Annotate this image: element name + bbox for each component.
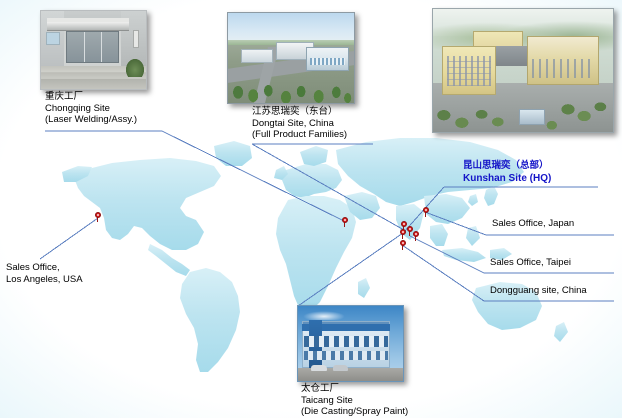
- taipei-marker[interactable]: [412, 231, 421, 241]
- glass-entrance-door: [66, 31, 119, 64]
- shrub: [126, 59, 144, 76]
- taicang-marker[interactable]: [399, 229, 408, 239]
- los-angeles-marker[interactable]: [94, 212, 103, 222]
- world-site-map: 重庆工厂 Chongqing Site (Laser Welding/Assy.…: [0, 0, 622, 418]
- pin-dot: [415, 233, 417, 235]
- taicang-site-photo: [297, 305, 404, 382]
- dongtai-name-en: Dongtai Site, China: [252, 118, 347, 130]
- chongqing-marker[interactable]: [341, 217, 350, 227]
- label-kunshan-hq: 昆山思瑞奕（总部） Kunshan Site (HQ): [463, 160, 551, 185]
- label-dongtai-site: 江苏思瑞奕（东台） Dongtai Site, China (Full Prod…: [252, 106, 347, 141]
- pin-dot: [402, 231, 404, 233]
- chongqing-name-cn: 重庆工厂: [45, 91, 137, 103]
- parked-car: [333, 365, 349, 370]
- japan-name-en: Sales Office, Japan: [492, 218, 574, 230]
- label-japan-office: Sales Office, Japan: [492, 218, 574, 230]
- building-left: [442, 46, 496, 95]
- pin-dot: [344, 219, 346, 221]
- la-detail: Los Angeles, USA: [6, 274, 83, 286]
- taicang-detail: (Die Casting/Spray Paint): [301, 406, 408, 418]
- kunshan-name-en: Kunshan Site (HQ): [463, 173, 551, 186]
- entrance-canopy: [47, 22, 129, 31]
- kunshan-hq-photo: [432, 8, 614, 133]
- label-dongguang-site: Dongguang site, China: [490, 285, 587, 297]
- taicang-name-en: Taicang Site: [301, 395, 408, 407]
- pin-dot: [403, 223, 405, 225]
- window-left: [46, 32, 60, 45]
- dongguang-marker[interactable]: [399, 240, 408, 250]
- cloud: [303, 311, 345, 320]
- chongqing-name-en: Chongqing Site: [45, 103, 137, 115]
- pin-dot: [402, 242, 404, 244]
- label-los-angeles-office: Sales Office, Los Angeles, USA: [6, 262, 83, 285]
- chongqing-detail: (Laser Welding/Assy.): [45, 114, 137, 126]
- taipei-name-en: Sales Office, Taipei: [490, 257, 571, 269]
- building-left: [241, 49, 274, 63]
- label-taipei-office: Sales Office, Taipei: [490, 257, 571, 269]
- label-taicang-site: 太仓工厂 Taicang Site (Die Casting/Spray Pai…: [301, 383, 408, 418]
- pin-dot: [425, 209, 427, 211]
- pin-dot: [409, 228, 411, 230]
- la-name-en: Sales Office,: [6, 262, 83, 274]
- japan-marker[interactable]: [422, 207, 431, 217]
- taicang-name-cn: 太仓工厂: [301, 383, 408, 395]
- label-chongqing-site: 重庆工厂 Chongqing Site (Laser Welding/Assy.…: [45, 91, 137, 126]
- parked-car: [311, 365, 328, 370]
- window-row-lower: [304, 351, 388, 360]
- window-row-upper: [304, 336, 388, 347]
- landscaping-shrubs: [433, 90, 613, 132]
- dongtai-site-photo: [227, 12, 355, 104]
- wall-sign: [133, 30, 138, 49]
- pin-dot: [97, 214, 99, 216]
- dongguang-name-en: Dongguang site, China: [490, 285, 587, 297]
- landscaping-trees: [228, 62, 354, 103]
- building-right: [527, 36, 599, 85]
- dongtai-name-cn: 江苏思瑞奕（东台）: [252, 106, 347, 118]
- chongqing-site-photo: [40, 10, 147, 90]
- dongtai-detail: (Full Product Families): [252, 129, 347, 141]
- kunshan-name-cn: 昆山思瑞奕（总部）: [463, 160, 551, 173]
